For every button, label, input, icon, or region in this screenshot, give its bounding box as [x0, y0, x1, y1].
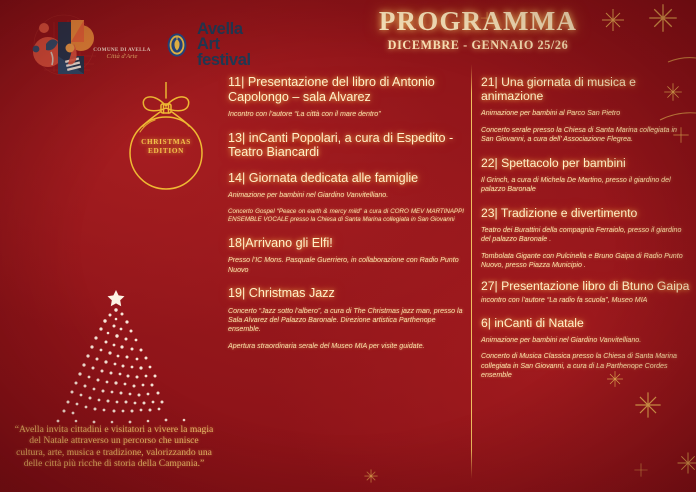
comune-line-2: Città d'Arte [86, 54, 158, 61]
event-description: Animazione per bambini nel Giardino Vanv… [481, 336, 690, 345]
event-description: Animazione per bambini nel Giardino Vanv… [228, 191, 464, 200]
event-description: Animazione per bambini al Parco San Piet… [481, 109, 690, 118]
event-description: Concerto Gospel “Peace on earth & mercy … [228, 208, 464, 225]
program-header: PROGRAMMA DICEMBRE - GENNAIO 25/26 [340, 6, 696, 53]
event-item: 27| Presentazione libro di Btuno Gaipa i… [481, 279, 690, 305]
event-description: Il Grinch, a cura di Michela De Martino,… [481, 176, 690, 195]
event-item: 13| inCanti Popolari, a cura di Espedito… [228, 131, 464, 160]
page-title: PROGRAMMA [260, 6, 696, 37]
poster-canvas: COMUNE DI AVELLA Città d'Arte Avella Art… [0, 0, 696, 492]
ornament-label: CHRISTMAS EDITION [110, 138, 222, 156]
event-title: 13| inCanti Popolari, a cura di Espedito… [228, 131, 464, 160]
avella-art-logo-icon: COMUNE DI AVELLA Città d'Arte [24, 12, 110, 78]
event-item: 19| Christmas Jazz Concerto “Jazz sotto … [228, 286, 464, 351]
intro-quote: “Avella invita cittadini e visitatori a … [14, 424, 214, 469]
comune-wordmark: COMUNE DI AVELLA Città d'Arte [86, 48, 158, 61]
event-item: 6| inCanti di Natale Animazione per bamb… [481, 316, 690, 381]
event-description: incontro con l’autore “La radio fa scuol… [481, 296, 690, 305]
events-column-right: 21| Una giornata di musica e animazione … [481, 64, 690, 381]
events-column-left: 11| Presentazione del libro di Antonio C… [228, 64, 464, 351]
ornament-label-line-1: CHRISTMAS [110, 138, 222, 147]
festival-wordmark: Avella Art festival [197, 22, 251, 68]
event-title: 23| Tradizione e divertimento [481, 206, 690, 220]
city-crest-icon [166, 32, 188, 58]
event-item: 14| Giornata dedicata alle famiglie Anim… [228, 171, 464, 225]
event-description: Concerto serale presso la Chiesa di Sant… [481, 126, 690, 145]
event-item: 22| Spettacolo per bambini Il Grinch, a … [481, 156, 690, 195]
event-title: 27| Presentazione libro di Btuno Gaipa [481, 279, 690, 293]
event-title: 11| Presentazione del libro di Antonio C… [228, 75, 464, 104]
brand-logos: COMUNE DI AVELLA Città d'Arte Avella Art… [24, 12, 251, 78]
column-divider [471, 64, 472, 479]
event-description: Presso l’IC Mons. Pasquale Guerriero, in… [228, 256, 464, 275]
event-title: 18|Arrivano gli Elfi! [228, 236, 464, 251]
christmas-ornament: CHRISTMAS EDITION [110, 82, 222, 197]
event-description: Concerto di Musica Classica presso la Ch… [481, 352, 690, 380]
dotted-christmas-tree-icon [28, 288, 213, 428]
event-title: 14| Giornata dedicata alle famiglie [228, 171, 464, 186]
event-title: 6| inCanti di Natale [481, 316, 690, 330]
event-item: 21| Una giornata di musica e animazione … [481, 75, 690, 145]
event-title: 21| Una giornata di musica e animazione [481, 75, 690, 103]
event-description: Concerto “Jazz sotto l’albero”, a cura d… [228, 307, 464, 335]
page-subtitle: DICEMBRE - GENNAIO 25/26 [260, 38, 696, 53]
event-item: 23| Tradizione e divertimento Teatro dei… [481, 206, 690, 271]
ornament-label-line-2: EDITION [110, 147, 222, 156]
event-description: Apertura straordinaria serale del Museo … [228, 342, 464, 351]
event-item: 11| Presentazione del libro di Antonio C… [228, 75, 464, 120]
event-description: Incontro con l’autore “La città con il m… [228, 110, 464, 119]
event-title: 19| Christmas Jazz [228, 286, 464, 301]
event-description: Tombolata Gigante con Pulcinella e Bruno… [481, 252, 690, 271]
event-description: Teatro dei Burattini della compagnia Fer… [481, 226, 690, 245]
event-item: 18|Arrivano gli Elfi! Presso l’IC Mons. … [228, 236, 464, 275]
event-title: 22| Spettacolo per bambini [481, 156, 690, 170]
